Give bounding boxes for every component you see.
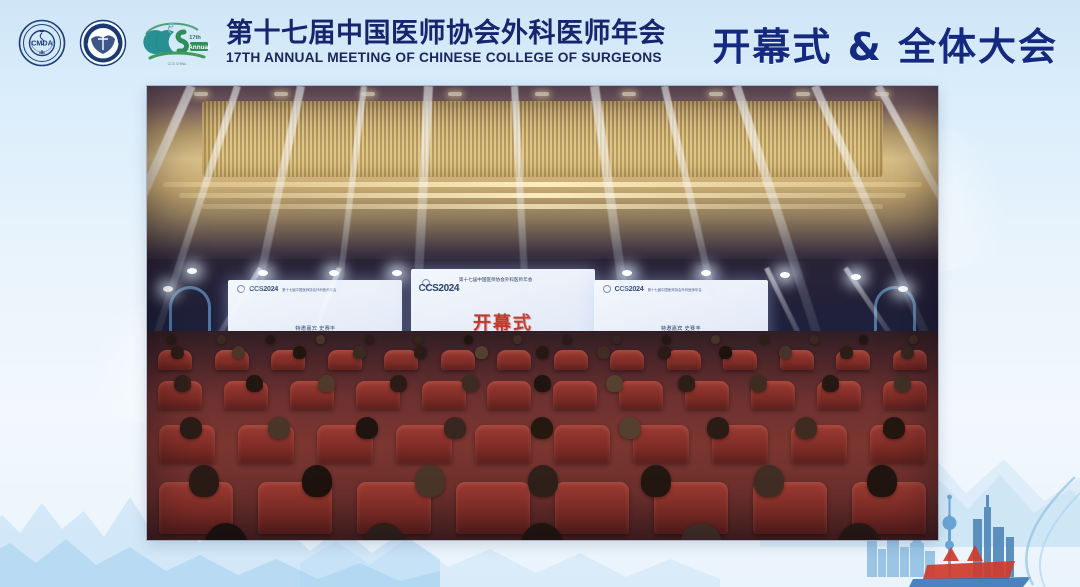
conference-title-block: 第十七届中国医师协会外科医师年会 17TH ANNUAL MEETING OF …: [226, 19, 675, 68]
screen-left-subtitle: 第十七届中国医师协会外科医师年会: [282, 287, 336, 292]
screen-left-brand: CCS2024: [249, 286, 278, 293]
screen-center-brand: CCS2024: [419, 283, 460, 294]
audience-area: [147, 331, 938, 540]
svg-text:CMDA: CMDA: [31, 39, 53, 48]
hall-ceiling: [147, 86, 938, 268]
svg-text:17th: 17th: [189, 35, 201, 41]
page-header: CMDA Annu: [0, 0, 1080, 86]
ccs-logo-icon: Annual 17th CCS CHINA: [140, 18, 212, 68]
conference-hall-scene: CCS2024 第十七届中国医师协会外科医师年会 特邀嘉宾 史赛丰 中国医师协会…: [147, 86, 938, 540]
page-title: 第十七届中国医师协会外科医师年会: [226, 19, 675, 48]
screen-center-title: 第十七届中国医师协会外科医师年会: [459, 277, 595, 283]
cmda-logo-icon: CMDA: [18, 19, 66, 67]
svg-text:CCS CHINA: CCS CHINA: [168, 62, 187, 66]
screen-right-logo-icon: [603, 285, 611, 293]
page-subtitle-en: 17TH ANNUAL MEETING OF CHINESE COLLEGE O…: [226, 50, 662, 68]
session-title: 开幕式 & 全体大会: [712, 16, 1058, 71]
logo-strip: CMDA Annu: [18, 18, 212, 68]
svg-text:Annual: Annual: [188, 44, 210, 51]
screen-right-brand: CCS2024: [615, 286, 644, 293]
cma-surgeon-branch-logo-icon: [79, 19, 127, 67]
screen-right-header: CCS2024 第十七届中国医师协会外科医师年会: [603, 285, 760, 293]
screen-left-logo-icon: [237, 285, 245, 293]
video-player[interactable]: CCS2024 第十七届中国医师协会外科医师年会 特邀嘉宾 史赛丰 中国医师协会…: [147, 86, 938, 540]
screen-right-subtitle: 第十七届中国医师协会外科医师年会: [648, 287, 702, 292]
ceiling-gold-panel: [202, 101, 882, 177]
screen-left-header: CCS2024 第十七届中国医师协会外科医师年会: [237, 285, 394, 293]
